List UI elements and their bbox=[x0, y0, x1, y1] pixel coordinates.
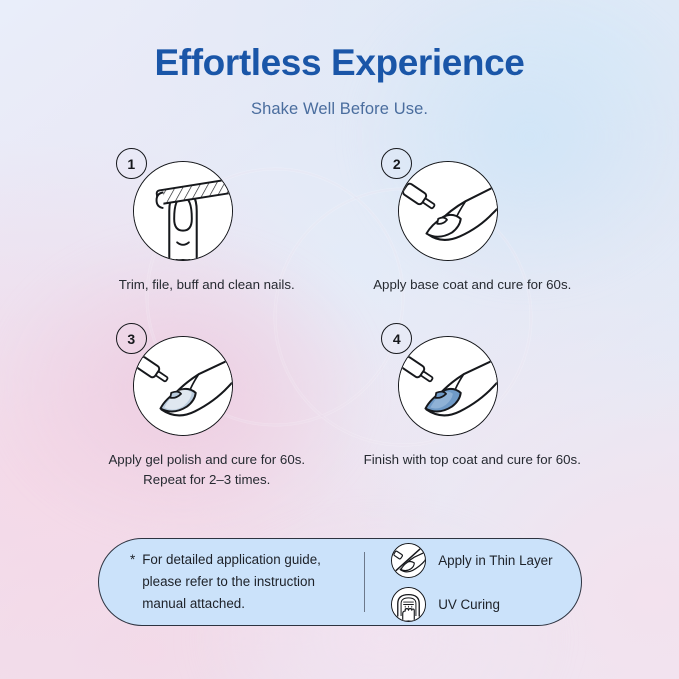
step-1-art: 1 bbox=[114, 148, 300, 266]
step-1-badge: 1 bbox=[116, 148, 147, 179]
step-4-caption: Finish with top coat and cure for 60s. bbox=[364, 450, 581, 470]
note-tips: Apply in Thin Layer bbox=[365, 543, 581, 622]
note-banner: * For detailed application guide, please… bbox=[98, 538, 582, 626]
tip-uv-curing: UV Curing bbox=[391, 587, 581, 622]
instruction-card: Effortless Experience Shake Well Before … bbox=[0, 0, 679, 679]
note-text: For detailed application guide, please r… bbox=[142, 549, 362, 614]
step-2-badge: 2 bbox=[381, 148, 412, 179]
nail-file-icon bbox=[133, 161, 233, 261]
step-3-badge: 3 bbox=[116, 323, 147, 354]
uv-curing-icon bbox=[391, 587, 426, 622]
step-2-caption: Apply base coat and cure for 60s. bbox=[373, 275, 571, 295]
thin-layer-icon bbox=[391, 543, 426, 578]
tip-thin-layer-label: Apply in Thin Layer bbox=[438, 553, 552, 568]
page-title: Effortless Experience bbox=[0, 44, 679, 83]
tip-uv-curing-label: UV Curing bbox=[438, 597, 500, 612]
tip-thin-layer: Apply in Thin Layer bbox=[391, 543, 581, 578]
page-subtitle: Shake Well Before Use. bbox=[0, 100, 679, 119]
header: Effortless Experience Shake Well Before … bbox=[0, 44, 679, 119]
base-coat-brush-icon bbox=[398, 161, 498, 261]
step-1-caption: Trim, file, buff and clean nails. bbox=[119, 275, 295, 295]
steps-grid: 1 bbox=[74, 148, 605, 491]
step-2-art: 2 bbox=[379, 148, 565, 266]
step-1: 1 bbox=[74, 148, 340, 295]
note-text-block: * For detailed application guide, please… bbox=[99, 549, 362, 614]
note-divider bbox=[364, 552, 365, 612]
gel-polish-brush-icon bbox=[133, 336, 233, 436]
asterisk-marker: * bbox=[130, 549, 135, 614]
step-4-art: 4 bbox=[379, 323, 565, 441]
step-3: 3 bbox=[74, 323, 340, 490]
step-4: 4 bbox=[340, 323, 606, 490]
step-4-badge: 4 bbox=[381, 323, 412, 354]
top-coat-brush-icon bbox=[398, 336, 498, 436]
step-3-art: 3 bbox=[114, 323, 300, 441]
step-3-caption: Apply gel polish and cure for 60s. Repea… bbox=[87, 450, 327, 490]
step-2: 2 bbox=[340, 148, 606, 295]
